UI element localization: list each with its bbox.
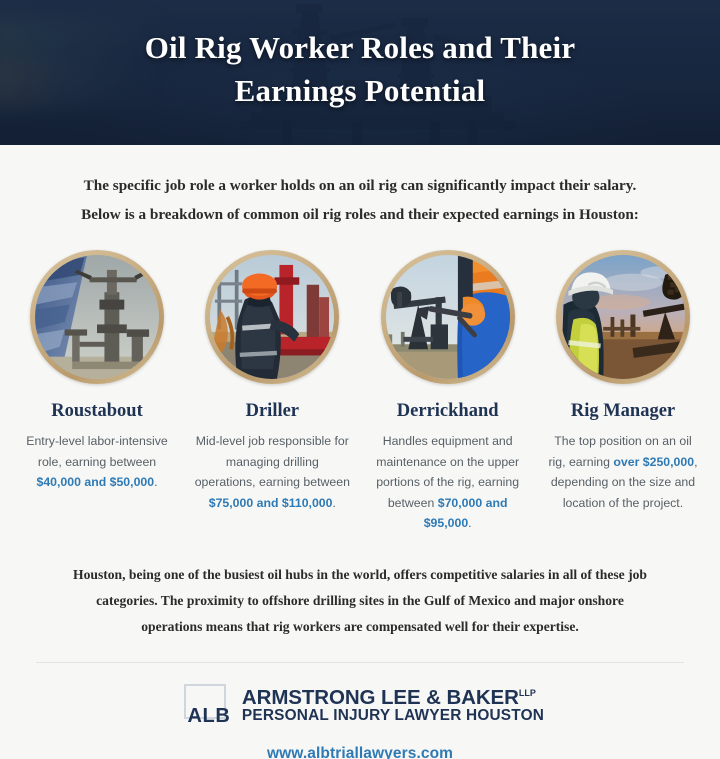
page-title-line-1: Oil Rig Worker Roles and Their [34, 26, 686, 69]
role-description: The top position on an oil rig, earning … [541, 431, 705, 513]
role-description-suffix: . [154, 475, 157, 489]
role-image [210, 255, 334, 379]
role-image-ring [205, 250, 339, 384]
firm-tagline: PERSONAL INJURY LAWYER HOUSTON [242, 707, 544, 724]
logo-initials: ALB [180, 706, 238, 726]
role-cards: Roustabout Entry-level labor-intensive r… [15, 250, 705, 534]
role-description: Mid-level job responsible for managing d… [190, 431, 354, 513]
driller-orange-helmet-photo-icon [210, 255, 334, 379]
role-description: Entry-level labor-intensive role, earnin… [15, 431, 179, 493]
role-card: Derrickhand Handles equipment and mainte… [366, 250, 530, 534]
footer-divider [36, 662, 684, 663]
intro-line-1: The specific job role a worker holds on … [35, 171, 685, 200]
firm-logo[interactable]: ALB ARMSTRONG LEE & BAKERLLP PERSONAL IN… [176, 683, 544, 725]
role-salary-highlight: $40,000 and $50,000 [36, 475, 154, 489]
role-description-prefix: Entry-level labor-intensive role, earnin… [26, 434, 167, 469]
firm-name-suffix: LLP [519, 688, 536, 698]
role-title: Driller [190, 400, 354, 422]
role-description-prefix: Mid-level job responsible for managing d… [195, 434, 350, 489]
role-description-suffix: . [333, 496, 336, 510]
website-link[interactable]: www.albtriallawyers.com [0, 745, 720, 759]
role-salary-highlight: over $250,000 [613, 455, 694, 469]
role-image-ring [556, 250, 690, 384]
role-title: Derrickhand [366, 400, 530, 422]
firm-name: ARMSTRONG LEE & BAKERLLP [242, 683, 544, 708]
intro-line-2: Below is a breakdown of common oil rig r… [35, 200, 685, 229]
role-card: Roustabout Entry-level labor-intensive r… [15, 250, 179, 493]
outro-paragraph: Houston, being one of the busiest oil hu… [36, 562, 684, 640]
rig-valve-equipment-photo-icon [35, 255, 159, 379]
header-banner: Oil Rig Worker Roles and Their Earnings … [0, 0, 720, 145]
intro-paragraph: The specific job role a worker holds on … [35, 171, 685, 229]
page-title: Oil Rig Worker Roles and Their Earnings … [0, 26, 720, 112]
infographic-page: Oil Rig Worker Roles and Their Earnings … [0, 0, 720, 759]
outro-line-3: operations means that rig workers are co… [36, 614, 684, 640]
role-card: Driller Mid-level job responsible for ma… [190, 250, 354, 513]
role-card: Rig Manager The top position on an oil r… [541, 250, 705, 513]
role-image [561, 255, 685, 379]
rig-manager-hardhat-sunset-photo-icon [561, 255, 685, 379]
role-description: Handles equipment and maintenance on the… [366, 431, 530, 534]
page-title-line-2: Earnings Potential [34, 69, 686, 112]
outro-line-1: Houston, being one of the busiest oil hu… [36, 562, 684, 588]
role-description-suffix: . [468, 516, 471, 530]
role-image [35, 255, 159, 379]
role-image-ring [381, 250, 515, 384]
role-image [386, 255, 510, 379]
pumpjack-worker-wrench-photo-icon [386, 255, 510, 379]
firm-name-text: ARMSTRONG LEE & BAKER [242, 685, 519, 708]
role-salary-highlight: $75,000 and $110,000 [209, 496, 333, 510]
outro-line-2: categories. The proximity to offshore dr… [36, 588, 684, 614]
role-title: Roustabout [15, 400, 179, 422]
alb-logo-mark-icon: ALB [176, 683, 238, 725]
role-image-ring [30, 250, 164, 384]
role-title: Rig Manager [541, 400, 705, 422]
firm-logo-text: ARMSTRONG LEE & BAKERLLP PERSONAL INJURY… [238, 683, 544, 725]
footer: ALB ARMSTRONG LEE & BAKERLLP PERSONAL IN… [0, 683, 720, 759]
